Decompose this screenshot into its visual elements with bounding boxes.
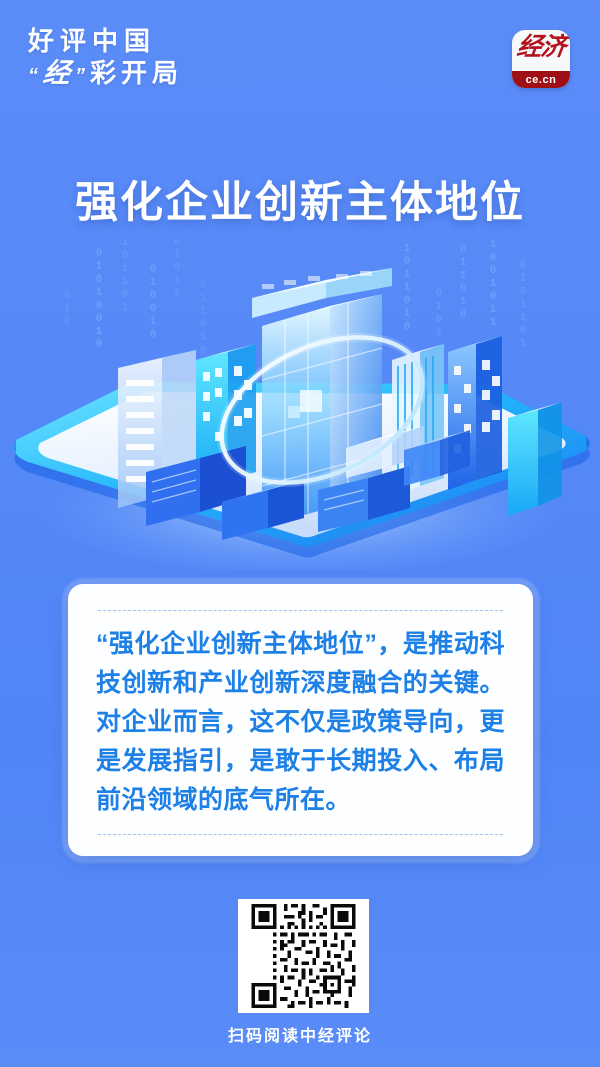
brand-line-2: “ 经 ” 彩开局	[28, 60, 183, 87]
qr-code[interactable]	[238, 899, 369, 1013]
page-title: 强化企业创新主体地位	[0, 168, 600, 230]
qr-caption: 扫码阅读中经评论	[0, 1022, 600, 1046]
quote-text: “强化企业创新主体地位”，是推动科技创新和产业创新深度融合的关键。对企业而言，这…	[96, 625, 505, 820]
brand-line-1: 好评中国	[28, 28, 183, 54]
ce-cn-logo[interactable]: 经济 ce.cn	[512, 30, 570, 88]
divider-top	[98, 610, 503, 611]
building-cyan-slab	[508, 402, 562, 516]
brand-line-2-rest: 彩开局	[90, 60, 183, 86]
poster-root: 好评中国 “ 经 ” 彩开局 经济 ce.cn 强化企业创新主体地位 01010…	[0, 0, 600, 1067]
brand-quote-open: “	[28, 66, 43, 86]
poster-header: 好评中国 “ 经 ” 彩开局 经济 ce.cn	[0, 0, 600, 120]
qr-code-image	[243, 904, 364, 1008]
campaign-brand: 好评中国 “ 经 ” 彩开局	[28, 28, 183, 87]
logo-domain-band: ce.cn	[512, 71, 570, 88]
quote-card: “强化企业创新主体地位”，是推动科技创新和产业创新深度融合的关键。对企业而言，这…	[68, 584, 533, 856]
logo-wordmark: 经济	[515, 35, 567, 60]
city-illustration-svg	[0, 240, 600, 570]
illustration: 01010010 0101101 010010 01011 0110101 01…	[0, 240, 600, 570]
brand-calligraphy-char: 经	[42, 60, 77, 87]
divider-bottom	[98, 834, 503, 835]
brand-quote-close: ”	[75, 66, 90, 86]
